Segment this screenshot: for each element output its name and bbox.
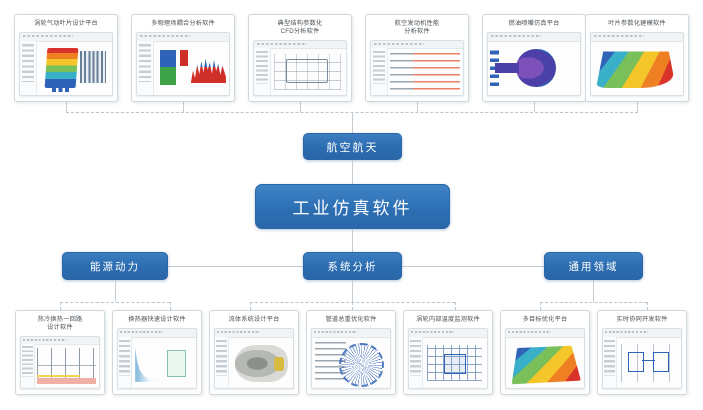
connector-tick (352, 302, 353, 310)
node-energy-power-label: 能源动力 (90, 259, 140, 274)
product-thumbnail (370, 40, 464, 96)
node-system-analysis[interactable]: 系统分析 (303, 252, 402, 280)
connector-tick (637, 102, 638, 112)
product-thumbnail (253, 40, 347, 96)
product-card[interactable]: 管道总重优化软件 (306, 310, 396, 395)
product-thumbnail (590, 32, 684, 96)
product-card-label: 航空发动机性能 分析软件 (366, 15, 468, 40)
product-card-label: 涡轮内部温度监测软件 (404, 311, 492, 328)
product-thumbnail (136, 32, 230, 96)
product-thumbnail (487, 32, 581, 96)
product-thumbnail (214, 328, 294, 389)
product-card[interactable]: 涡轮气动叶片设计平台 (14, 14, 118, 102)
node-aerospace-label: 航空航天 (327, 139, 379, 155)
connector-tick (183, 102, 184, 112)
connector-tick (417, 102, 418, 112)
product-card[interactable]: 燃油喷嘴仿真平台 (482, 14, 586, 102)
product-card[interactable]: 叶片参数化建模软件 (585, 14, 689, 102)
connector-tick (250, 302, 251, 310)
connector-energy-bus (60, 302, 170, 303)
product-card-label: 实时协同开发软件 (598, 311, 686, 328)
node-energy-power[interactable]: 能源动力 (62, 252, 168, 280)
product-card-label: 换热器快速设计软件 (113, 311, 201, 328)
product-thumbnail (408, 328, 488, 389)
connector-energy-down (115, 280, 116, 302)
product-card[interactable]: 热冷换热一回路 设计软件 (15, 310, 105, 395)
product-card[interactable]: 换热器快速设计软件 (112, 310, 202, 395)
node-aerospace[interactable]: 航空航天 (303, 133, 402, 160)
node-root-label: 工业仿真软件 (293, 194, 413, 219)
connector-top-to-aerospace (352, 112, 353, 133)
connector-tick (534, 102, 535, 112)
product-thumbnail (19, 32, 113, 96)
product-card-label: 热冷换热一回路 设计软件 (16, 311, 104, 336)
product-card[interactable]: 流体系统设计平台 (209, 310, 299, 395)
product-thumbnail (117, 328, 197, 389)
connector-tick (170, 302, 171, 310)
product-card-label: 典型结构参数化 CFD分析软件 (249, 15, 351, 40)
connector-general-down (593, 280, 594, 302)
product-card[interactable]: 多物理场耦合分析软件 (131, 14, 235, 102)
product-card-label: 多物理场耦合分析软件 (132, 15, 234, 32)
product-card[interactable]: 航空发动机性能 分析软件 (365, 14, 469, 102)
product-card-label: 流体系统设计平台 (210, 311, 298, 328)
product-card-label: 燃油喷嘴仿真平台 (483, 15, 585, 32)
connector-tick (647, 302, 648, 310)
connector-tick (60, 302, 61, 310)
node-general-domain-label: 通用领域 (569, 259, 619, 274)
node-root[interactable]: 工业仿真软件 (255, 184, 450, 229)
product-card[interactable]: 涡轮内部温度监测软件 (403, 310, 493, 395)
product-thumbnail (602, 328, 682, 389)
product-card-label: 叶片参数化建模软件 (586, 15, 688, 32)
product-card[interactable]: 多目标优化平台 (500, 310, 590, 395)
connector-tick (66, 102, 67, 112)
product-card-label: 涡轮气动叶片设计平台 (15, 15, 117, 32)
connector-tick (300, 102, 301, 112)
connector-aerospace-to-root (352, 160, 353, 184)
product-card[interactable]: 实时协同开发软件 (597, 310, 687, 395)
connector-system-down (352, 280, 353, 302)
connector-tick (455, 302, 456, 310)
product-thumbnail (20, 336, 100, 389)
product-card-label: 管道总重优化软件 (307, 311, 395, 328)
product-card-label: 多目标优化平台 (501, 311, 589, 328)
product-thumbnail (311, 328, 391, 389)
node-system-analysis-label: 系统分析 (328, 259, 378, 274)
connector-tick (540, 302, 541, 310)
node-general-domain[interactable]: 通用领域 (544, 252, 643, 280)
diagram-canvas: 涡轮气动叶片设计平台 多物理场耦合分析软件 典型结构参数化 CFD分析软件 航空… (0, 0, 703, 410)
product-thumbnail (505, 328, 585, 389)
product-card[interactable]: 典型结构参数化 CFD分析软件 (248, 14, 352, 102)
connector-general-bus (540, 302, 647, 303)
